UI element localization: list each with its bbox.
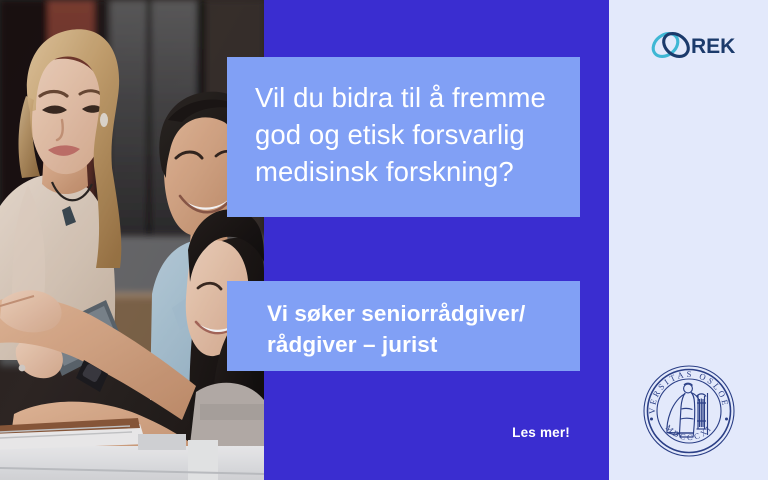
rek-wordmark: REK bbox=[691, 35, 735, 58]
headline-text: Vil du bidra til å fremme god og etisk f… bbox=[255, 79, 554, 190]
job-title-text: Vi søker seniorrådgiver/ rådgiver – juri… bbox=[267, 298, 560, 360]
university-of-oslo-seal: UNIVERSITAS OSLOENSIS MDCCCXI bbox=[641, 363, 737, 459]
seal-ring-text-top: UNIVERSITAS OSLOENSIS bbox=[641, 363, 731, 414]
team-collaboration-photo bbox=[0, 0, 264, 480]
headline-box: Vil du bidra til å fremme god og etisk f… bbox=[227, 57, 580, 217]
university-of-oslo-seal-icon: UNIVERSITAS OSLOENSIS MDCCCXI bbox=[641, 363, 737, 459]
rek-interlocking-loops-icon: REK bbox=[649, 24, 739, 66]
recruitment-banner: Vil du bidra til å fremme god og etisk f… bbox=[0, 0, 768, 480]
photo-illustration bbox=[0, 0, 264, 480]
job-title-box: Vi søker seniorrådgiver/ rådgiver – juri… bbox=[227, 281, 580, 371]
read-more-link[interactable]: Les mer! bbox=[227, 425, 580, 440]
rek-logo[interactable]: REK bbox=[649, 24, 739, 66]
